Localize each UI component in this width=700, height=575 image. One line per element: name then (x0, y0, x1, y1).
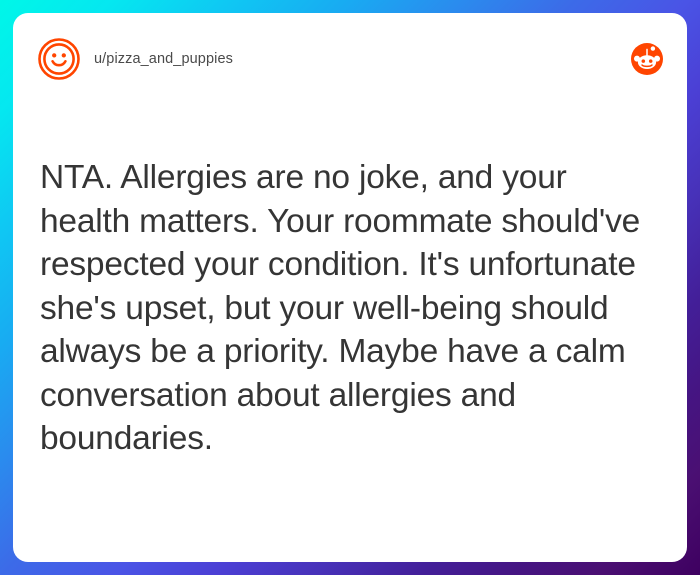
comment-card: u/pizza_and_puppies NTA. Allergies are n… (13, 13, 687, 562)
card-header: u/pizza_and_puppies (13, 13, 687, 105)
smiley-face-avatar-icon[interactable] (37, 37, 81, 81)
username-label: u/pizza_and_puppies (94, 51, 233, 67)
reddit-snoo-logo-icon[interactable] (631, 43, 663, 75)
comment-text: NTA. Allergies are no joke, and your hea… (40, 156, 656, 461)
